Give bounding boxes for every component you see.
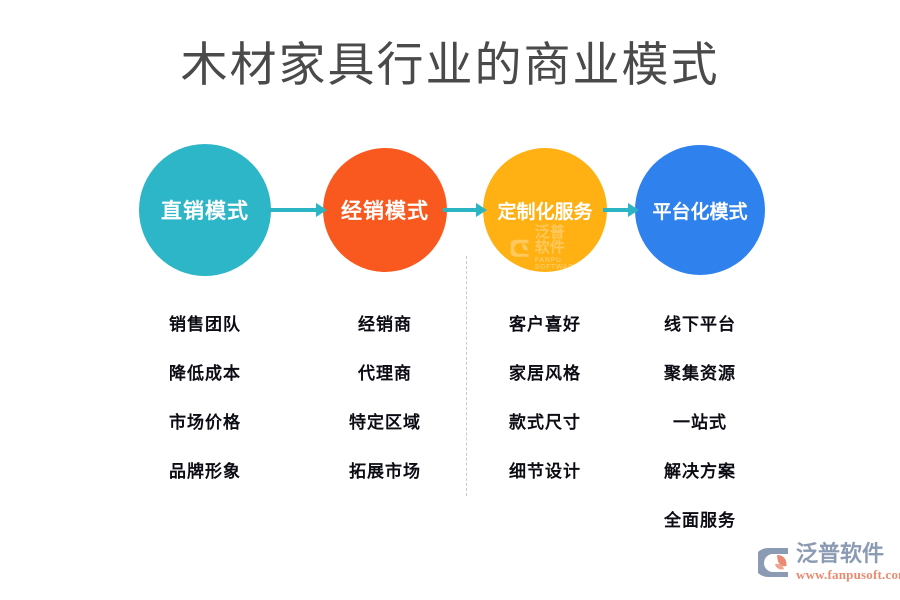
flow-node-1[interactable]: 直销模式 (139, 144, 271, 276)
keyword-item: 一站式 (620, 398, 780, 447)
fanpu-logo-icon (758, 545, 792, 579)
flow-node-3[interactable]: 泛普软件FANPU SOFTWARE定制化服务 (483, 148, 607, 272)
keyword-columns: 销售团队降低成本市场价格品牌形象经销商代理商特定区域拓展市场客户喜好家居风格款式… (0, 300, 900, 550)
flow-arrow-2 (443, 203, 487, 217)
keyword-item: 全面服务 (620, 496, 780, 545)
watermark-text-block: 泛普软件FANPU SOFTWARE (535, 225, 579, 271)
arrow-head-icon (628, 203, 639, 217)
watermark-company-name: 泛普软件 (535, 225, 579, 255)
flow-node-label: 经销模式 (341, 195, 429, 225)
keyword-item: 款式尺寸 (465, 398, 625, 447)
brand-logo: 泛普软件 www.fanpusoft.com (758, 538, 890, 586)
flow-node-label: 定制化服务 (497, 197, 592, 224)
watermark-fanpu-icon (511, 238, 531, 258)
keyword-column-direct-sales: 销售团队降低成本市场价格品牌形象 (125, 300, 285, 496)
flow-node-label: 平台化模式 (652, 197, 747, 224)
logo-text-block: 泛普软件 www.fanpusoft.com (796, 543, 900, 581)
keyword-item: 聚集资源 (620, 349, 780, 398)
slide-canvas: 木材家具行业的商业模式 直销模式经销模式泛普软件FANPU SOFTWARE定制… (0, 0, 900, 600)
arrow-head-icon (476, 203, 487, 217)
flow-node-4[interactable]: 平台化模式 (635, 145, 765, 275)
logo-company-name: 泛普软件 (796, 543, 900, 565)
keyword-column-platform: 线下平台聚集资源一站式解决方案全面服务 (620, 300, 780, 545)
logo-website-url: www.fanpusoft.com (796, 568, 900, 581)
watermark-company-name-en: FANPU SOFTWARE (535, 257, 579, 271)
keyword-item: 销售团队 (125, 300, 285, 349)
keyword-item: 家居风格 (465, 349, 625, 398)
keyword-item: 降低成本 (125, 349, 285, 398)
arrow-shaft (267, 208, 316, 212)
keyword-item: 解决方案 (620, 447, 780, 496)
keyword-item: 品牌形象 (125, 447, 285, 496)
keyword-item: 经销商 (305, 300, 465, 349)
keyword-item: 特定区域 (305, 398, 465, 447)
keyword-item: 细节设计 (465, 447, 625, 496)
flow-node-label: 直销模式 (161, 195, 249, 225)
arrow-shaft (443, 208, 476, 212)
keyword-item: 市场价格 (125, 398, 285, 447)
keyword-column-distribution: 经销商代理商特定区域拓展市场 (305, 300, 465, 496)
flow-arrow-3 (603, 203, 639, 217)
circle-watermark-logo: 泛普软件FANPU SOFTWARE (511, 225, 579, 271)
flow-arrow-1 (267, 203, 327, 217)
arrow-shaft (603, 208, 628, 212)
keyword-item: 客户喜好 (465, 300, 625, 349)
keyword-item: 代理商 (305, 349, 465, 398)
flow-node-2[interactable]: 经销模式 (323, 148, 447, 272)
arrow-head-icon (316, 203, 327, 217)
keyword-item: 拓展市场 (305, 447, 465, 496)
keyword-item: 线下平台 (620, 300, 780, 349)
keyword-column-customization: 客户喜好家居风格款式尺寸细节设计 (465, 300, 625, 496)
